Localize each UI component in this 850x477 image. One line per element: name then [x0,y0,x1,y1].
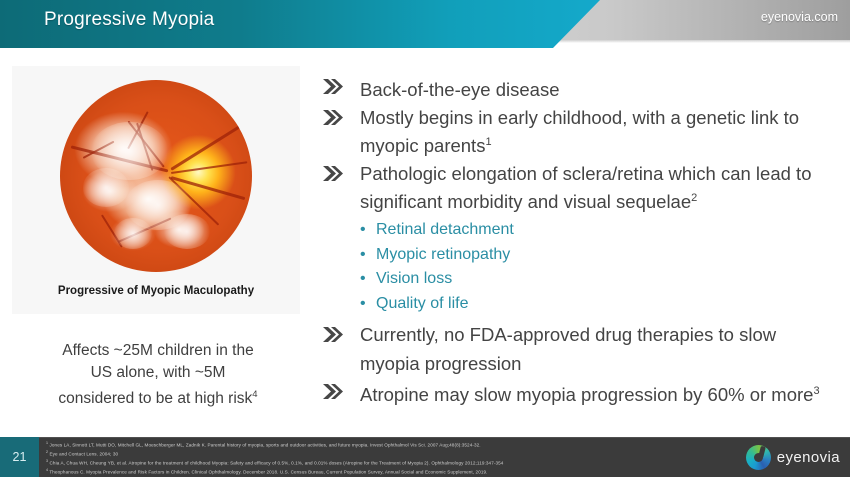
bullet-item: Atropine may slow myopia progression by … [316,379,840,407]
bullet-dot-icon: • [360,292,366,317]
page-title: Progressive Myopia [44,9,214,31]
bullet-text-body: Back-of-the-eye disease [360,79,560,100]
figure-caption: Progressive of Myopic Maculopathy [12,285,300,297]
sub-bullet-label: Retinal detachment [376,221,514,238]
sub-bullet-item: • Quality of life [376,292,840,317]
bullet-dot-icon: • [360,218,366,243]
chevron-right-icon [322,78,344,95]
footnote-item: 1 Jones LA, Sinnott LT, Mutti DO, Mitche… [46,440,746,449]
logo-wordmark: eyenovia [777,449,840,466]
bullet-item: Pathologic elongation of sclera/retina w… [316,161,840,214]
stat-line-2: US alone, with ~5M [91,364,226,381]
prevalence-statistic-text: Affects ~25M children in the US alone, w… [14,340,302,410]
stat-line-3: considered to be at high risk [58,390,252,407]
bullet-list: Back-of-the-eye disease Mostly begins in… [316,74,840,410]
bullet-item: Currently, no FDA-approved drug therapie… [316,322,840,375]
eyenovia-logo: eyenovia [746,444,840,470]
footnote-item: 4 Theophanous C. Myopia Prevalence and R… [46,467,746,476]
chevron-right-icon [322,109,344,126]
footnote-text: Chia A, Chua WH, Cheung YB, et al. Atrop… [50,460,504,465]
fundus-photo [60,80,252,272]
bullet-text-body: Pathologic elongation of sclera/retina w… [360,163,811,212]
figure-panel: Progressive of Myopic Maculopathy [12,66,300,314]
footnote-item: 3 Chia A, Chua WH, Cheung YB, et al. Atr… [46,458,746,467]
bullet-item: Back-of-the-eye disease [316,74,840,102]
bullet-text: Currently, no FDA-approved drug therapie… [360,324,776,373]
footnote-text: Jones LA, Sinnott LT, Mutti DO, Mitchell… [50,443,481,448]
chevron-right-icon [322,165,344,182]
slide-canvas: Progressive Myopia eyenovia.com [0,0,850,477]
sub-bullet-label: Quality of life [376,295,468,312]
sub-bullet-label: Vision loss [376,270,452,287]
footnote-marker: 1 [46,441,48,445]
bullet-text-body: Mostly begins in early childhood, with a… [360,107,799,156]
page-number-badge: 21 [0,437,39,477]
bullet-dot-icon: • [360,267,366,292]
stat-footnote-marker: 4 [252,389,257,400]
stat-line-1: Affects ~25M children in the [62,342,253,359]
bullet-text-body: Currently, no FDA-approved drug therapie… [360,324,776,373]
sub-bullet-label: Myopic retinopathy [376,246,510,263]
slide-header: Progressive Myopia eyenovia.com [0,0,850,40]
chevron-right-icon [322,326,344,343]
bullet-text: Mostly begins in early childhood, with a… [360,107,799,156]
footnote-marker: 4 [46,468,48,472]
retinal-fundus-image [60,80,252,272]
site-url-label: eyenovia.com [761,10,838,24]
slide-footer: 21 1 Jones LA, Sinnott LT, Mutti DO, Mit… [0,437,850,477]
sub-bullet-item: • Vision loss [376,267,840,292]
bullet-footnote-marker: 2 [691,192,697,204]
bullet-footnote-marker: 1 [485,136,491,148]
footnote-list: 1 Jones LA, Sinnott LT, Mutti DO, Mitche… [46,440,746,476]
bullet-footnote-marker: 3 [813,385,819,397]
footnote-item: 2 Eye and Contact Lens. 2004; 30 [46,449,746,458]
bullet-item: Mostly begins in early childhood, with a… [316,105,840,158]
bullet-text: Atropine may slow myopia progression by … [360,384,820,405]
eyenovia-swirl-icon [746,445,771,470]
sub-bullet-item: • Retinal detachment [376,218,840,243]
footnote-marker: 3 [46,459,48,463]
bullet-dot-icon: • [360,243,366,268]
footnote-marker: 2 [46,450,48,454]
footnote-text: Eye and Contact Lens. 2004; 30 [50,451,119,456]
bullet-text-body: Atropine may slow myopia progression by … [360,384,813,405]
footnote-text: Theophanous C. Myopia Prevalence and Ris… [49,469,487,474]
chevron-right-icon [322,383,344,400]
footer-divider [0,437,850,438]
sub-bullet-list: • Retinal detachment • Myopic retinopath… [316,218,840,316]
sub-bullet-item: • Myopic retinopathy [376,243,840,268]
bullet-text: Pathologic elongation of sclera/retina w… [360,163,811,212]
bullet-text: Back-of-the-eye disease [360,79,560,100]
